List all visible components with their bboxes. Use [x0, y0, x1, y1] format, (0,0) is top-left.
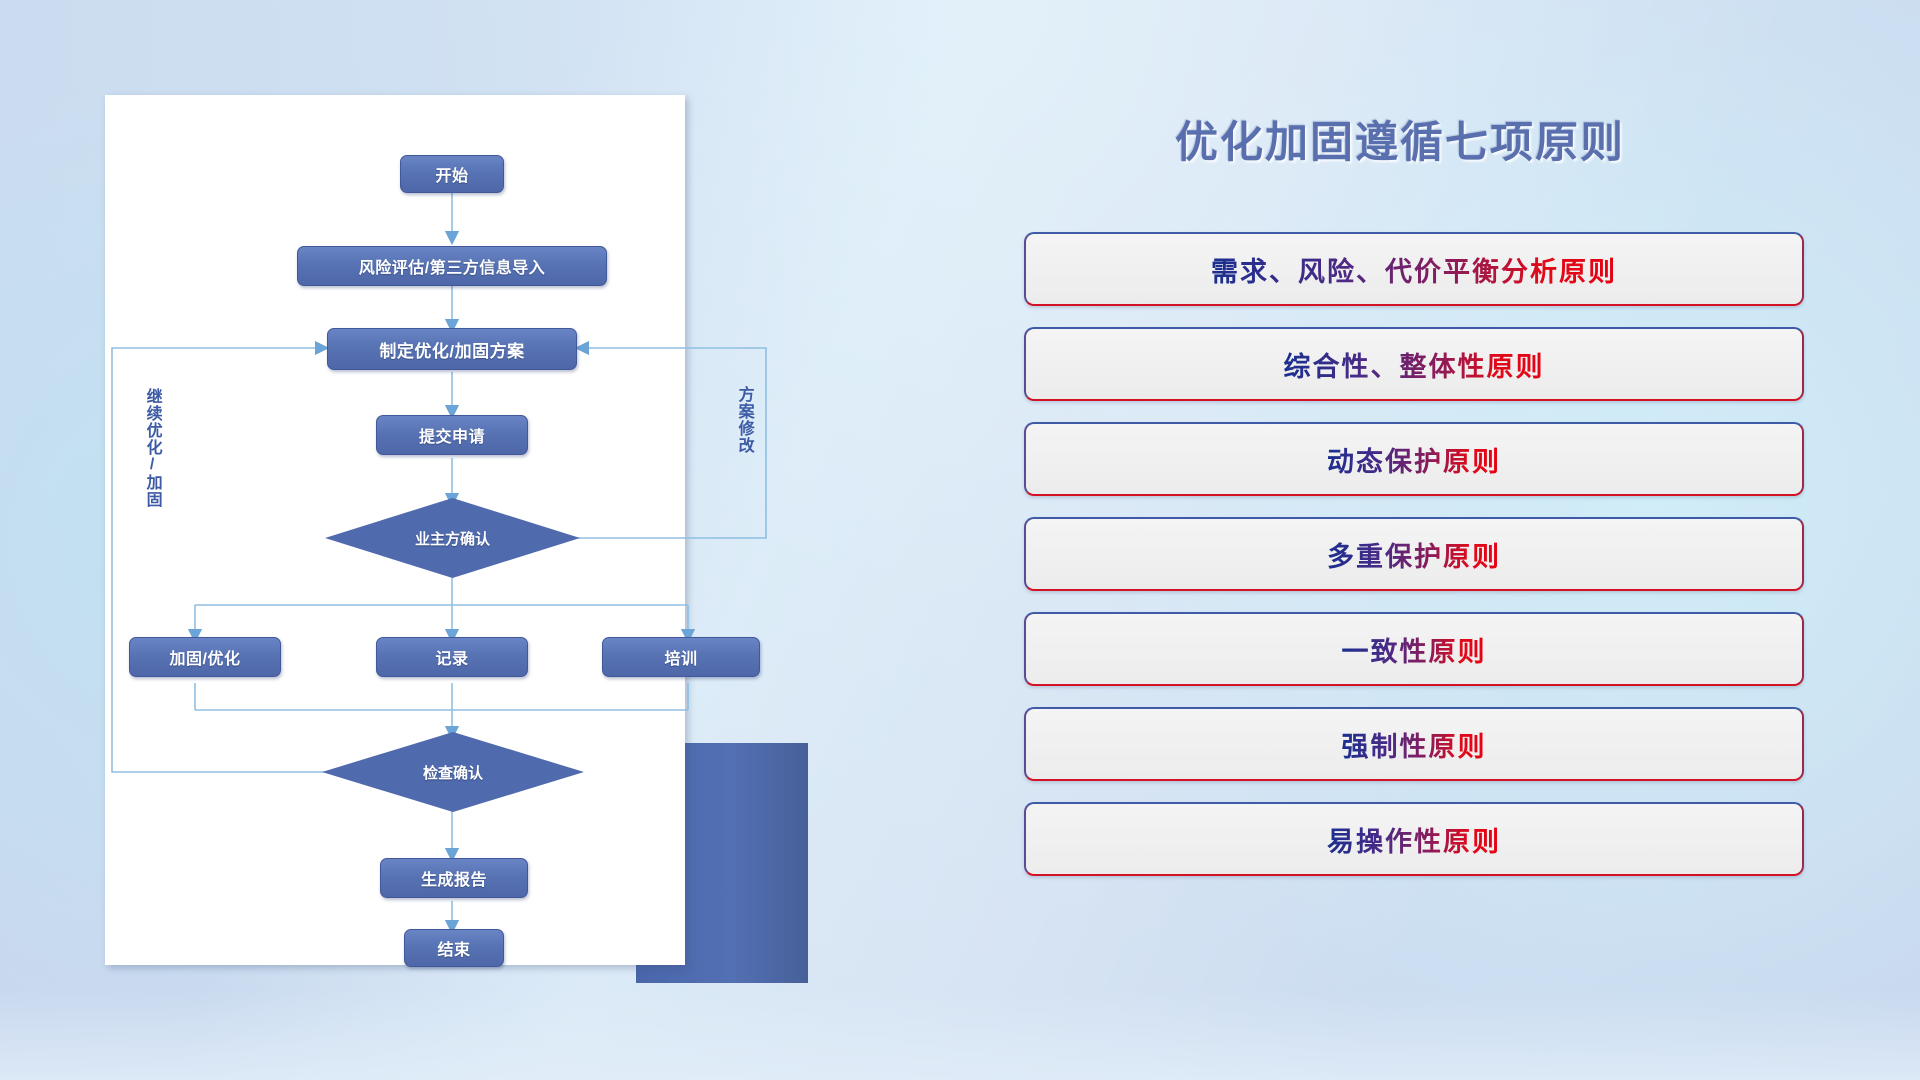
flow-node-label: 检查确认 — [423, 762, 483, 783]
flow-node-submit-application[interactable]: 提交申请 — [376, 415, 528, 455]
flow-node-inspection-confirmation[interactable]: 检查确认 — [322, 732, 584, 812]
principle-item[interactable]: 易操作性原则 — [1024, 802, 1804, 876]
flow-node-record[interactable]: 记录 — [376, 637, 528, 677]
flow-node-label: 结束 — [437, 936, 470, 960]
edge-label-continue-optimize: 继续优化/加固 — [143, 388, 160, 508]
flow-node-owner-confirmation[interactable]: 业主方确认 — [325, 498, 580, 578]
flow-node-label: 记录 — [435, 645, 468, 669]
flow-node-training[interactable]: 培训 — [602, 637, 760, 677]
flow-node-risk-assessment[interactable]: 风险评估/第三方信息导入 — [297, 246, 607, 286]
page-title: 优化加固遵循七项原则 — [1000, 108, 1800, 170]
principle-label: 易操作性原则 — [1327, 820, 1501, 859]
principle-item[interactable]: 多重保护原则 — [1024, 517, 1804, 591]
slide-canvas: 开始 风险评估/第三方信息导入 制定优化/加固方案 提交申请 业主方确认 加固/… — [0, 0, 1920, 1080]
principle-label: 多重保护原则 — [1327, 535, 1501, 574]
flow-node-label: 生成报告 — [421, 866, 487, 890]
principle-label: 一致性原则 — [1342, 630, 1487, 669]
principles-list: 需求、风险、代价平衡分析原则 综合性、整体性原则 动态保护原则 多重保护原则 一… — [1024, 232, 1804, 897]
principle-label: 综合性、整体性原则 — [1284, 345, 1545, 384]
flow-node-label: 风险评估/第三方信息导入 — [359, 254, 545, 278]
flow-node-generate-report[interactable]: 生成报告 — [380, 858, 528, 898]
principle-label: 动态保护原则 — [1327, 440, 1501, 479]
flow-node-plan[interactable]: 制定优化/加固方案 — [327, 328, 577, 370]
principle-item[interactable]: 需求、风险、代价平衡分析原则 — [1024, 232, 1804, 306]
flow-node-label: 开始 — [435, 162, 468, 186]
flow-node-start[interactable]: 开始 — [400, 155, 504, 193]
flow-node-label: 业主方确认 — [415, 528, 490, 549]
flow-node-label: 培训 — [664, 645, 697, 669]
flow-node-label: 制定优化/加固方案 — [379, 337, 524, 362]
principle-label: 需求、风险、代价平衡分析原则 — [1211, 250, 1617, 289]
principle-item[interactable]: 一致性原则 — [1024, 612, 1804, 686]
principle-item[interactable]: 强制性原则 — [1024, 707, 1804, 781]
flow-node-label: 加固/优化 — [170, 645, 241, 669]
flow-node-reinforce[interactable]: 加固/优化 — [129, 637, 281, 677]
flow-node-label: 提交申请 — [419, 423, 485, 447]
principle-label: 强制性原则 — [1342, 725, 1487, 764]
principle-item[interactable]: 综合性、整体性原则 — [1024, 327, 1804, 401]
flow-node-end[interactable]: 结束 — [404, 929, 504, 967]
edge-label-plan-revision: 方案修改 — [735, 386, 752, 454]
principle-item[interactable]: 动态保护原则 — [1024, 422, 1804, 496]
